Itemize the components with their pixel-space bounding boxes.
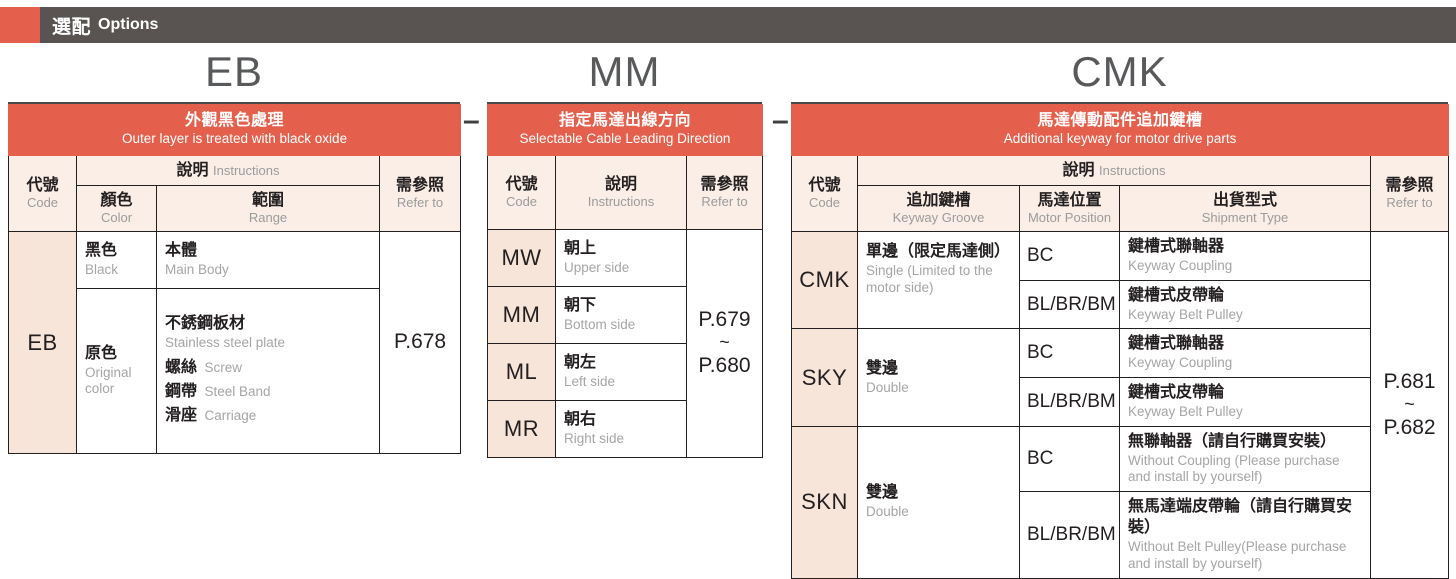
table-eb: 外觀黑色處理 Outer layer is treated with black…	[8, 104, 461, 454]
title-separator-dash-2: –	[772, 106, 789, 136]
col-header-keyway-groove-en: Keyway Groove	[861, 210, 1016, 226]
cell-range-steel-band-cn: 鋼帶	[165, 383, 197, 400]
table-row: MW 朝上 Upper side P.679 ~ P.680	[488, 229, 763, 286]
cell-color-black-en: Black	[85, 262, 148, 279]
table-row: 追加鍵槽 Keyway Groove 馬達位置 Motor Position 出…	[792, 186, 1449, 232]
cell-shipment-keyway-belt-pulley: 鍵槽式皮帶輪 Keyway Belt Pulley	[1120, 280, 1371, 329]
col-header-refer-to-en: Refer to	[690, 194, 759, 210]
table-eb-header-cn: 外觀黑色處理	[13, 111, 456, 131]
cell-code-eb: EB	[9, 232, 77, 454]
table-row: SKY 雙邊 Double BC 鍵槽式聯軸器 Keyway Coupling	[792, 329, 1449, 378]
col-header-refer-to: 需參照 Refer to	[687, 155, 763, 229]
cell-motor-position-blbrbm: BL/BR/BM	[1020, 280, 1120, 329]
col-header-instructions: 說明 Instructions	[858, 155, 1371, 185]
col-header-instructions-en: Instructions	[213, 163, 279, 178]
cell-code-cmk: CMK	[792, 232, 858, 329]
cell-color-original-en: Original color	[85, 365, 148, 399]
cell-range-stainless-en: Stainless steel plate	[165, 335, 371, 352]
cell-range-carriage-cn: 滑座	[165, 407, 197, 424]
cell-shipment-keyway-coupling-cn: 鍵槽式聯軸器	[1128, 334, 1362, 355]
cell-keyway-skn-en: Double	[866, 504, 1011, 521]
cell-code-mw: MW	[488, 229, 556, 286]
col-header-refer-to-cn: 需參照	[1374, 176, 1445, 195]
model-title-cmk-text: CMK	[1071, 51, 1167, 97]
col-header-instructions-cn: 說明	[177, 162, 209, 179]
cell-shipment-without-belt-pulley: 無馬達端皮帶輪（請自行購買安裝） Without Belt Pulley(Ple…	[1120, 492, 1371, 578]
col-header-shipment-type-en: Shipment Type	[1123, 210, 1367, 226]
cell-range-main-body: 本體 Main Body	[157, 232, 380, 289]
cell-direction-bottom-cn: 朝下	[564, 296, 678, 317]
model-code-titles: EB MM CMK – –	[0, 46, 1456, 104]
table-eb-header-en: Outer layer is treated with black oxide	[13, 131, 456, 148]
cell-keyway-sky-cn: 雙邊	[866, 359, 1011, 380]
cell-shipment-without-coupling-en: Without Coupling (Please purchase and in…	[1128, 453, 1362, 487]
model-title-eb: EB	[8, 46, 460, 104]
cell-keyway-sky-en: Double	[866, 380, 1011, 397]
cell-motor-position-bc: BC	[1020, 329, 1120, 378]
table-row: 指定馬達出線方向 Selectable Cable Leading Direct…	[488, 105, 763, 156]
table-eb-header: 外觀黑色處理 Outer layer is treated with black…	[9, 105, 461, 156]
col-header-range-cn: 範圍	[160, 191, 376, 210]
col-header-code-cn: 代號	[795, 176, 854, 195]
cell-code-mm: MM	[488, 286, 556, 343]
cell-refer-to-cmk-tilde: ~	[1371, 395, 1448, 415]
cell-shipment-keyway-belt-pulley-en: Keyway Belt Pulley	[1128, 307, 1362, 324]
table-cmk: 馬達傳動配件追加鍵槽 Additional keyway for motor d…	[791, 104, 1449, 579]
cell-range-carriage-en: Carriage	[204, 408, 256, 423]
col-header-instructions: 說明 Instructions	[556, 155, 687, 229]
cell-refer-to-mm-from: P.679	[687, 307, 762, 333]
cell-shipment-keyway-coupling: 鍵槽式聯軸器 Keyway Coupling	[1120, 329, 1371, 378]
col-header-motor-position: 馬達位置 Motor Position	[1020, 186, 1120, 232]
col-header-code: 代號 Code	[488, 155, 556, 229]
col-header-code-cn: 代號	[491, 175, 552, 194]
cell-direction-right-en: Right side	[564, 431, 678, 448]
cell-refer-to-mm: P.679 ~ P.680	[687, 229, 763, 457]
col-header-color-en: Color	[80, 210, 153, 226]
table-mm: 指定馬達出線方向 Selectable Cable Leading Direct…	[487, 104, 763, 458]
cell-shipment-without-belt-pulley-en: Without Belt Pulley(Please purchase and …	[1128, 539, 1362, 573]
table-row: EB 黑色 Black 本體 Main Body P.678	[9, 232, 461, 289]
cell-shipment-keyway-belt-pulley-en: Keyway Belt Pulley	[1128, 404, 1362, 421]
cell-range-materials: 不銹鋼板材 Stainless steel plate 螺絲 Screw 鋼帶 …	[157, 289, 380, 454]
model-title-cmk: CMK	[791, 46, 1448, 104]
cell-color-black-cn: 黑色	[85, 241, 148, 262]
col-header-refer-to: 需參照 Refer to	[1371, 155, 1449, 231]
col-header-keyway-groove: 追加鍵槽 Keyway Groove	[858, 186, 1020, 232]
cell-shipment-keyway-belt-pulley: 鍵槽式皮帶輪 Keyway Belt Pulley	[1120, 378, 1371, 427]
cell-range-screw-cn: 螺絲	[165, 359, 197, 376]
cell-code-skn: SKN	[792, 426, 858, 578]
cell-code-mr: MR	[488, 400, 556, 457]
table-row: 代號 Code 說明 Instructions 需參照 Refer to	[792, 155, 1449, 185]
col-header-instructions-en: Instructions	[1099, 163, 1165, 178]
cell-code-sky: SKY	[792, 329, 858, 426]
col-header-code: 代號 Code	[9, 155, 77, 231]
table-mm-header-cn: 指定馬達出線方向	[492, 111, 758, 131]
cell-direction-upper-cn: 朝上	[564, 239, 678, 260]
cell-motor-position-blbrbm: BL/BR/BM	[1020, 378, 1120, 427]
cell-range-screw: 螺絲 Screw	[165, 356, 371, 380]
table-row: CMK 單邊（限定馬達側） Single (Limited to the mot…	[792, 232, 1449, 281]
cell-shipment-keyway-belt-pulley-cn: 鍵槽式皮帶輪	[1128, 383, 1362, 404]
cell-shipment-keyway-coupling-en: Keyway Coupling	[1128, 258, 1362, 275]
cell-keyway-skn: 雙邊 Double	[858, 426, 1020, 578]
cell-range-stainless-cn: 不銹鋼板材	[165, 314, 371, 335]
cell-motor-position-bc: BC	[1020, 232, 1120, 281]
cell-direction-right: 朝右 Right side	[556, 400, 687, 457]
col-header-instructions: 說明 Instructions	[77, 155, 380, 185]
cell-shipment-keyway-coupling: 鍵槽式聯軸器 Keyway Coupling	[1120, 232, 1371, 281]
cell-refer-to-mm-tilde: ~	[687, 333, 762, 353]
col-header-color-cn: 顏色	[80, 191, 153, 210]
cell-range-carriage: 滑座 Carriage	[165, 404, 371, 428]
cell-keyway-cmk: 單邊（限定馬達側） Single (Limited to the motor s…	[858, 232, 1020, 329]
cell-direction-upper: 朝上 Upper side	[556, 229, 687, 286]
table-row: 代號 Code 說明 Instructions 需參照 Refer to	[488, 155, 763, 229]
col-header-code-en: Code	[795, 195, 854, 211]
col-header-code: 代號 Code	[792, 155, 858, 231]
banner-title-cn: 選配	[52, 12, 91, 39]
cell-color-original-cn: 原色	[85, 344, 148, 365]
col-header-code-cn: 代號	[12, 176, 73, 195]
col-header-range: 範圍 Range	[157, 186, 380, 232]
cell-motor-position-bc: BC	[1020, 426, 1120, 492]
cell-color-black: 黑色 Black	[77, 232, 157, 289]
col-header-instructions-cn: 說明	[1063, 162, 1095, 179]
cell-direction-bottom: 朝下 Bottom side	[556, 286, 687, 343]
table-cmk-header-cn: 馬達傳動配件追加鍵槽	[796, 111, 1444, 131]
col-header-code-en: Code	[491, 194, 552, 210]
cell-direction-bottom-en: Bottom side	[564, 317, 678, 334]
cell-direction-left: 朝左 Left side	[556, 343, 687, 400]
table-mm-header: 指定馬達出線方向 Selectable Cable Leading Direct…	[488, 105, 763, 156]
model-title-mm: MM	[487, 46, 762, 104]
cell-color-original: 原色 Original color	[77, 289, 157, 454]
cell-shipment-without-belt-pulley-cn: 無馬達端皮帶輪（請自行購買安裝）	[1128, 497, 1362, 539]
table-row: 馬達傳動配件追加鍵槽 Additional keyway for motor d…	[792, 105, 1449, 156]
title-separator-dash-1: –	[463, 106, 480, 136]
cell-range-screw-en: Screw	[204, 360, 242, 375]
col-header-shipment-type-cn: 出貨型式	[1123, 191, 1367, 210]
cell-keyway-cmk-en: Single (Limited to the motor side)	[866, 263, 1011, 297]
cell-code-ml: ML	[488, 343, 556, 400]
table-row: 外觀黑色處理 Outer layer is treated with black…	[9, 105, 461, 156]
cell-shipment-keyway-coupling-en: Keyway Coupling	[1128, 355, 1362, 372]
col-header-motor-position-cn: 馬達位置	[1023, 191, 1116, 210]
cell-direction-right-cn: 朝右	[564, 410, 678, 431]
cell-direction-upper-en: Upper side	[564, 260, 678, 277]
cell-range-steel-band: 鋼帶 Steel Band	[165, 380, 371, 404]
cell-keyway-sky: 雙邊 Double	[858, 329, 1020, 426]
table-cmk-header: 馬達傳動配件追加鍵槽 Additional keyway for motor d…	[792, 105, 1449, 156]
col-header-refer-to-en: Refer to	[383, 195, 457, 211]
col-header-refer-to-cn: 需參照	[383, 176, 457, 195]
cell-shipment-keyway-belt-pulley-cn: 鍵槽式皮帶輪	[1128, 286, 1362, 307]
col-header-instructions-cn: 說明	[559, 175, 683, 194]
cell-direction-left-cn: 朝左	[564, 353, 678, 374]
col-header-shipment-type: 出貨型式 Shipment Type	[1120, 186, 1371, 232]
cell-refer-to-mm-until: P.680	[687, 353, 762, 379]
banner-accent-block	[0, 7, 40, 43]
cell-direction-left-en: Left side	[564, 374, 678, 391]
col-header-color: 顏色 Color	[77, 186, 157, 232]
cell-refer-to-cmk-from: P.681	[1371, 369, 1448, 395]
model-title-eb-text: EB	[205, 51, 263, 97]
cell-shipment-without-coupling-cn: 無聯軸器（請自行購買安裝）	[1128, 432, 1362, 453]
table-cmk-header-en: Additional keyway for motor drive parts	[796, 131, 1444, 148]
col-header-refer-to-en: Refer to	[1374, 195, 1445, 211]
banner-body: 選配 Options	[40, 7, 1456, 43]
cell-motor-position-blbrbm: BL/BR/BM	[1020, 492, 1120, 578]
col-header-refer-to: 需參照 Refer to	[380, 155, 461, 231]
cell-range-main-body-en: Main Body	[165, 262, 371, 279]
col-header-motor-position-en: Motor Position	[1023, 210, 1116, 226]
col-header-refer-to-cn: 需參照	[690, 175, 759, 194]
col-header-range-en: Range	[160, 210, 376, 226]
model-title-mm-text: MM	[589, 51, 661, 97]
cell-keyway-cmk-cn: 單邊（限定馬達側）	[866, 242, 1011, 263]
cell-refer-to-cmk: P.681 ~ P.682	[1371, 232, 1449, 579]
table-mm-header-en: Selectable Cable Leading Direction	[492, 131, 758, 148]
cell-refer-to-cmk-until: P.682	[1371, 415, 1448, 441]
cell-range-steel-band-en: Steel Band	[204, 384, 270, 399]
cell-shipment-without-coupling: 無聯軸器（請自行購買安裝） Without Coupling (Please p…	[1120, 426, 1371, 492]
col-header-code-en: Code	[12, 195, 73, 211]
table-row: 代號 Code 說明 Instructions 需參照 Refer to	[9, 155, 461, 185]
table-row: SKN 雙邊 Double BC 無聯軸器（請自行購買安裝） Without C…	[792, 426, 1449, 492]
col-header-keyway-groove-cn: 追加鍵槽	[861, 191, 1016, 210]
cell-shipment-keyway-coupling-cn: 鍵槽式聯軸器	[1128, 237, 1362, 258]
cell-keyway-skn-cn: 雙邊	[866, 483, 1011, 504]
options-banner: 選配 Options	[0, 7, 1456, 43]
banner-title-en: Options	[98, 16, 158, 34]
col-header-instructions-en: Instructions	[559, 194, 683, 210]
cell-range-main-body-cn: 本體	[165, 241, 371, 262]
cell-refer-to-eb: P.678	[380, 232, 461, 454]
